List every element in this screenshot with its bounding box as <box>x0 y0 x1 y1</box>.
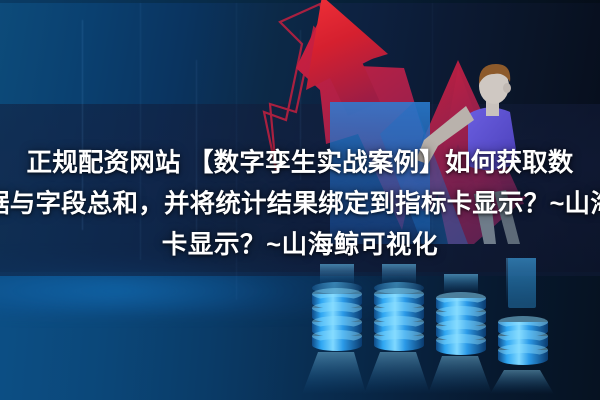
headline-line-3: 卡显示？~山海鲸可视化 <box>0 225 600 266</box>
arrow-head <box>306 0 388 116</box>
data-disc-stacks <box>300 258 600 400</box>
disc-stack-4 <box>498 258 548 365</box>
headline-line-2: 据与字段总和，并将统计结果绑定到指标卡显示？~山海 <box>0 184 600 225</box>
person-ear <box>503 83 511 93</box>
beam-3 <box>444 274 478 294</box>
disc-stack-2 <box>374 282 424 351</box>
cover-headline: 正规配资网站 【数字孪生实战案例】如何获取数 据与字段总和，并将统计结果绑定到指… <box>0 143 600 266</box>
headline-line-1: 正规配资网站 【数字孪生实战案例】如何获取数 <box>0 143 600 184</box>
disc-stack-3 <box>436 292 486 355</box>
cover-image: 正规配资网站 【数字孪生实战案例】如何获取数 据与字段总和，并将统计结果绑定到指… <box>0 0 600 400</box>
disc-stack-1 <box>312 282 362 351</box>
